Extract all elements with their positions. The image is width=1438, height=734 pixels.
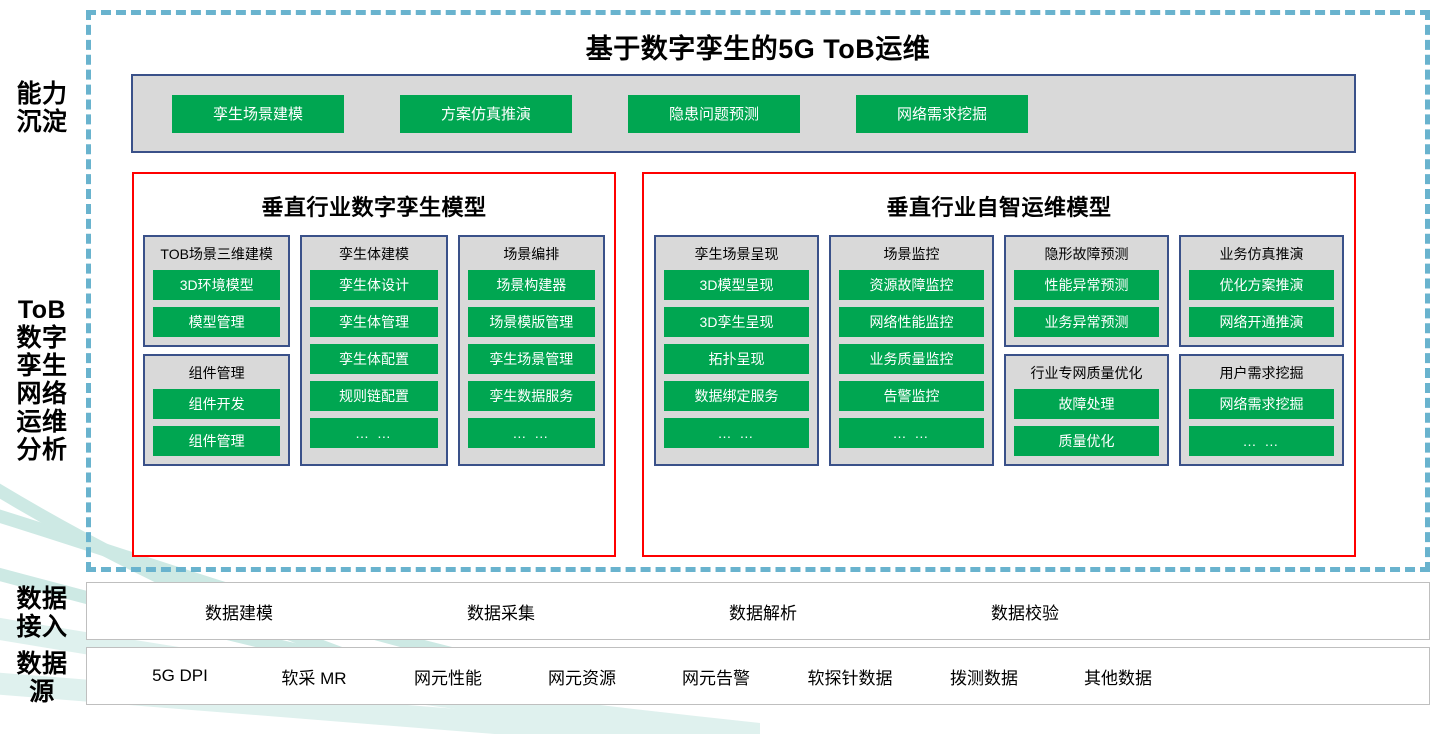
module-group: 用户需求挖掘网络需求挖掘… … [1179, 354, 1344, 466]
data-source-bar: 5G DPI软采 MR网元性能网元资源网元告警软探针数据拨测数据其他数据 [86, 647, 1430, 705]
module-group-title: 孪生场景呈现 [664, 244, 809, 264]
slide-canvas: 能力沉淀 ToB数字孪生网络运维分析 数据接入 数据源 基于数字孪生的5G To… [0, 0, 1438, 734]
data-access-bar: 数据建模数据采集数据解析数据校验 [86, 582, 1430, 640]
module-group-title: 场景监控 [839, 244, 984, 264]
module-group-title: 场景编排 [468, 244, 595, 264]
rail-label-data-access: 数据接入 [6, 585, 78, 641]
module-chip[interactable]: 3D孪生呈现 [664, 307, 809, 337]
module-chip[interactable]: 质量优化 [1014, 426, 1159, 456]
module-group-title: 用户需求挖掘 [1189, 363, 1334, 383]
data-source-item[interactable]: 网元资源 [515, 664, 649, 689]
module-chip[interactable]: 规则链配置 [310, 381, 437, 411]
module-group-title: 业务仿真推演 [1189, 244, 1334, 264]
data-source-item[interactable]: 软采 MR [247, 664, 381, 689]
module-chip[interactable]: 孪生体设计 [310, 270, 437, 300]
rail-capability-line: 能力 [6, 80, 78, 108]
data-source-item[interactable]: 网元性能 [381, 664, 515, 689]
panel-column: 场景编排场景构建器场景模版管理孪生场景管理孪生数据服务… … [458, 235, 605, 466]
module-chip[interactable]: 业务质量监控 [839, 344, 984, 374]
module-chip[interactable]: 网络需求挖掘 [1189, 389, 1334, 419]
module-group: 孪生场景呈现3D模型呈现3D孪生呈现拓扑呈现数据绑定服务… … [654, 235, 819, 466]
module-chip[interactable]: 孪生场景管理 [468, 344, 595, 374]
rail-capability-line: 沉淀 [6, 108, 78, 136]
rail-label-capability: 能力沉淀 [6, 80, 78, 136]
rail-source-line: 源 [6, 678, 78, 706]
module-chip[interactable]: … … [310, 418, 437, 448]
panel-column: 孪生体建模孪生体设计孪生体管理孪生体配置规则链配置… … [300, 235, 447, 466]
module-chip[interactable]: 故障处理 [1014, 389, 1159, 419]
panel-column: 隐形故障预测性能异常预测业务异常预测行业专网质量优化故障处理质量优化 [1004, 235, 1169, 466]
module-group: 组件管理组件开发组件管理 [143, 354, 290, 466]
module-chip[interactable]: 数据绑定服务 [664, 381, 809, 411]
module-chip[interactable]: 模型管理 [153, 307, 280, 337]
page-title: 基于数字孪生的5G ToB运维 [96, 27, 1420, 66]
module-group-title: 隐形故障预测 [1014, 244, 1159, 264]
module-group-title: 孪生体建模 [310, 244, 437, 264]
module-group: TOB场景三维建模3D环境模型模型管理 [143, 235, 290, 347]
data-source-item[interactable]: 拨测数据 [917, 664, 1051, 689]
module-chip[interactable]: … … [468, 418, 595, 448]
data-access-item[interactable]: 数据采集 [467, 599, 729, 624]
module-chip[interactable]: … … [664, 418, 809, 448]
module-chip[interactable]: 性能异常预测 [1014, 270, 1159, 300]
module-chip[interactable]: 孪生体配置 [310, 344, 437, 374]
module-chip[interactable]: 3D环境模型 [153, 270, 280, 300]
rail-source-line: 数据 [6, 650, 78, 678]
module-chip[interactable]: 场景模版管理 [468, 307, 595, 337]
data-source-item[interactable]: 软探针数据 [783, 664, 917, 689]
data-access-item[interactable]: 数据建模 [205, 599, 467, 624]
panel-vertical-industry-twin-model: 垂直行业数字孪生模型TOB场景三维建模3D环境模型模型管理组件管理组件开发组件管… [132, 172, 616, 557]
module-group: 场景编排场景构建器场景模版管理孪生场景管理孪生数据服务… … [458, 235, 605, 466]
panel-column: 孪生场景呈现3D模型呈现3D孪生呈现拓扑呈现数据绑定服务… … [654, 235, 819, 466]
module-group: 隐形故障预测性能异常预测业务异常预测 [1004, 235, 1169, 347]
rail-tob-line: 网络 [4, 380, 80, 408]
rail-tob-line: 运维 [4, 408, 80, 436]
rail-tob-line: 数字 [4, 324, 80, 352]
module-group: 孪生体建模孪生体设计孪生体管理孪生体配置规则链配置… … [300, 235, 447, 466]
panel-columns: 孪生场景呈现3D模型呈现3D孪生呈现拓扑呈现数据绑定服务… …场景监控资源故障监… [644, 235, 1354, 466]
module-chip[interactable]: 组件开发 [153, 389, 280, 419]
capability-chip[interactable]: 网络需求挖掘 [856, 95, 1028, 133]
module-chip[interactable]: 告警监控 [839, 381, 984, 411]
module-chip[interactable]: 资源故障监控 [839, 270, 984, 300]
module-group-title: 组件管理 [153, 363, 280, 383]
module-chip[interactable]: 网络性能监控 [839, 307, 984, 337]
module-chip[interactable]: … … [1189, 426, 1334, 456]
module-chip[interactable]: 优化方案推演 [1189, 270, 1334, 300]
capability-band: 孪生场景建模方案仿真推演隐患问题预测网络需求挖掘 [131, 74, 1356, 153]
panel-title: 垂直行业自智运维模型 [644, 190, 1354, 222]
module-chip[interactable]: 业务异常预测 [1014, 307, 1159, 337]
capability-chip[interactable]: 方案仿真推演 [400, 95, 572, 133]
rail-access-line: 接入 [6, 613, 78, 641]
module-chip[interactable]: 场景构建器 [468, 270, 595, 300]
module-chip[interactable]: 拓扑呈现 [664, 344, 809, 374]
module-group-title: TOB场景三维建模 [153, 244, 280, 264]
module-chip[interactable]: … … [839, 418, 984, 448]
module-group-title: 行业专网质量优化 [1014, 363, 1159, 383]
panel-column: 场景监控资源故障监控网络性能监控业务质量监控告警监控… … [829, 235, 994, 466]
data-source-item[interactable]: 5G DPI [113, 666, 247, 686]
module-chip[interactable]: 3D模型呈现 [664, 270, 809, 300]
panel-title: 垂直行业数字孪生模型 [134, 190, 614, 222]
panel-columns: TOB场景三维建模3D环境模型模型管理组件管理组件开发组件管理孪生体建模孪生体设… [134, 235, 614, 466]
module-chip[interactable]: 孪生体管理 [310, 307, 437, 337]
capability-chip[interactable]: 孪生场景建模 [172, 95, 344, 133]
rail-label-data-source: 数据源 [6, 650, 78, 706]
module-chip[interactable]: 网络开通推演 [1189, 307, 1334, 337]
data-access-item[interactable]: 数据解析 [729, 599, 991, 624]
rail-tob-line: 分析 [4, 436, 80, 464]
rail-label-tob-analysis: ToB数字孪生网络运维分析 [4, 296, 80, 464]
rail-tob-line: 孪生 [4, 352, 80, 380]
module-group: 业务仿真推演优化方案推演网络开通推演 [1179, 235, 1344, 347]
module-group: 场景监控资源故障监控网络性能监控业务质量监控告警监控… … [829, 235, 994, 466]
panel-vertical-industry-autonomous-ops-model: 垂直行业自智运维模型孪生场景呈现3D模型呈现3D孪生呈现拓扑呈现数据绑定服务… … [642, 172, 1356, 557]
panel-column: TOB场景三维建模3D环境模型模型管理组件管理组件开发组件管理 [143, 235, 290, 466]
data-source-item[interactable]: 其他数据 [1051, 664, 1185, 689]
module-chip[interactable]: 孪生数据服务 [468, 381, 595, 411]
data-access-item[interactable]: 数据校验 [991, 599, 1253, 624]
module-chip[interactable]: 组件管理 [153, 426, 280, 456]
panel-column: 业务仿真推演优化方案推演网络开通推演用户需求挖掘网络需求挖掘… … [1179, 235, 1344, 466]
rail-tob-line: ToB [4, 296, 80, 324]
capability-chip[interactable]: 隐患问题预测 [628, 95, 800, 133]
data-source-item[interactable]: 网元告警 [649, 664, 783, 689]
module-group: 行业专网质量优化故障处理质量优化 [1004, 354, 1169, 466]
rail-access-line: 数据 [6, 585, 78, 613]
